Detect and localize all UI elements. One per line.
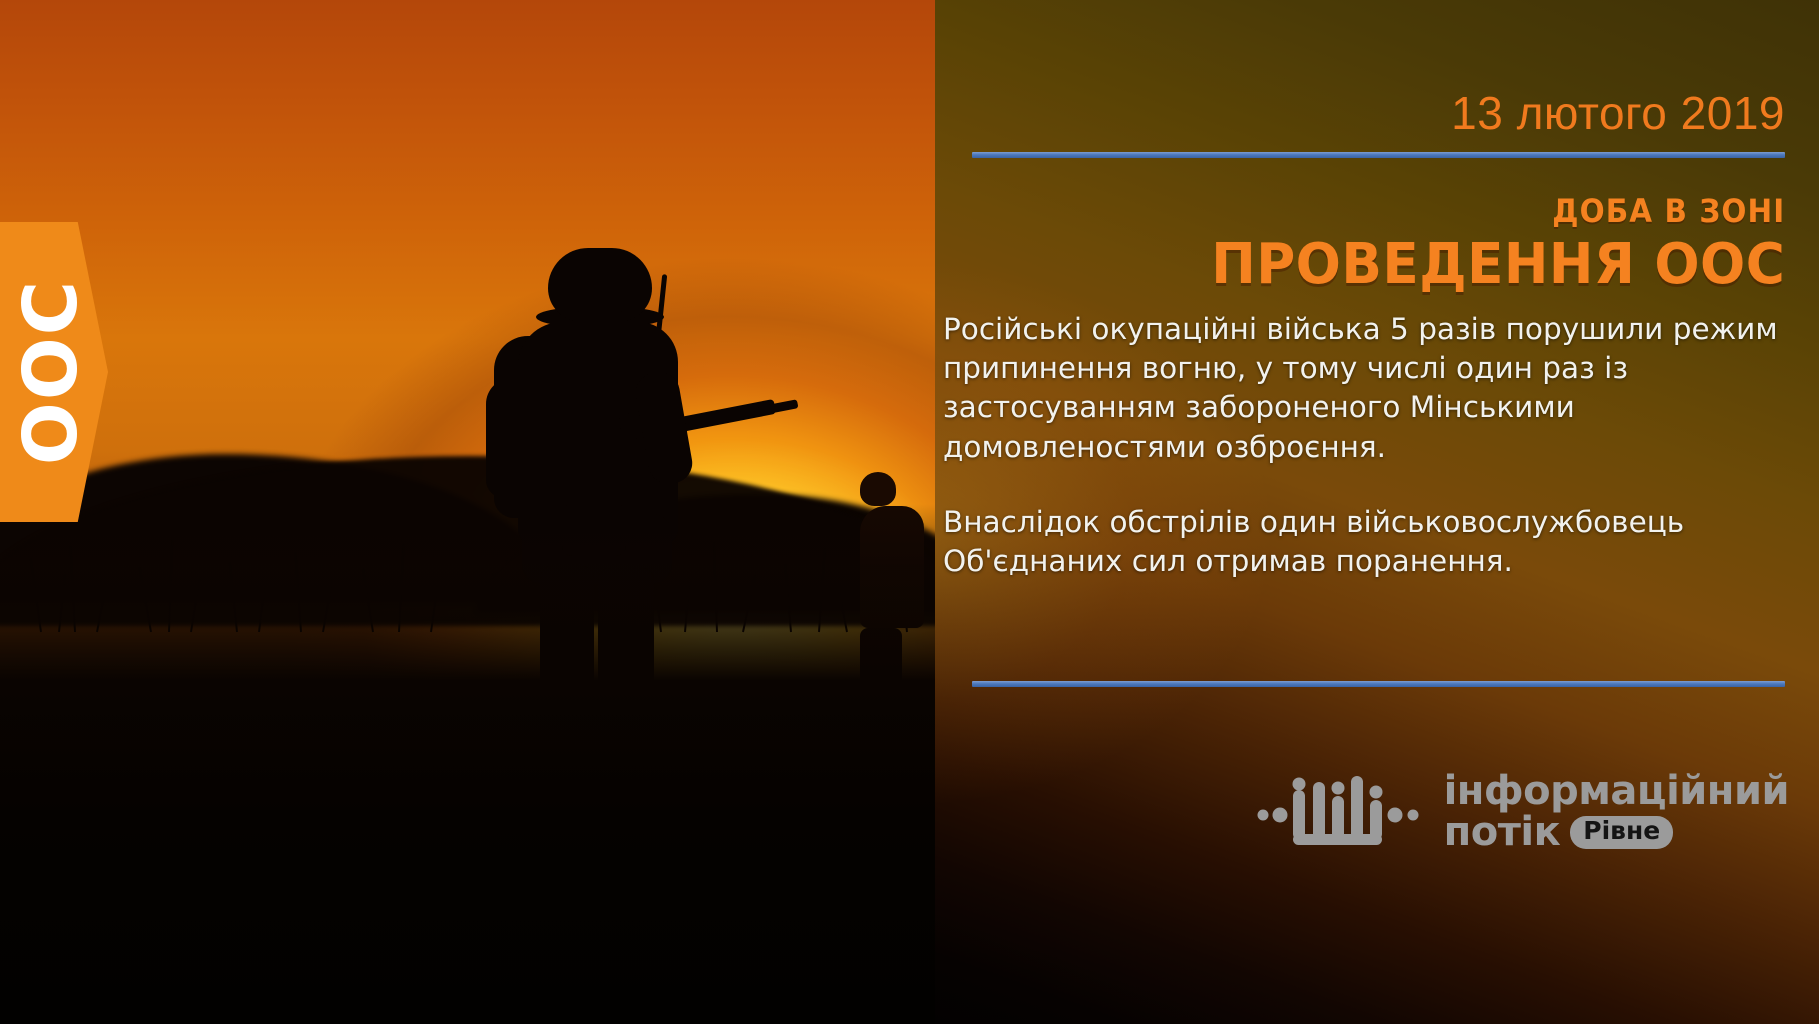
logo-wordmark: інформаційний потік Рівне bbox=[1444, 772, 1789, 852]
page-title: ПРОВЕДЕННЯ ООС bbox=[1211, 232, 1785, 297]
logo-line-2-row: потік Рівне bbox=[1444, 813, 1674, 852]
infographic-card: ООС 13 лютого 2019 ДОБА В ЗОНІ ПРОВЕДЕНН… bbox=[0, 0, 1819, 1024]
logo-line-1: інформаційний bbox=[1444, 772, 1789, 811]
publication-date: 13 лютого 2019 bbox=[1451, 86, 1785, 140]
info-panel: 13 лютого 2019 ДОБА В ЗОНІ ПРОВЕДЕННЯ ОО… bbox=[935, 0, 1819, 1024]
headline-kicker: ДОБА В ЗОНІ bbox=[1552, 192, 1785, 230]
sunset-soldier-photo bbox=[0, 0, 935, 1024]
distant-head bbox=[860, 472, 896, 506]
logo-city-badge: Рівне bbox=[1570, 816, 1673, 849]
paragraph-2: Внаслідок обстрілів один військовослужбо… bbox=[943, 503, 1785, 581]
waveform-icon bbox=[1256, 774, 1426, 850]
foreground-ground bbox=[0, 504, 935, 1024]
oos-badge-label: ООС bbox=[14, 279, 88, 465]
divider-top bbox=[972, 152, 1785, 158]
brand-logo: інформаційний потік Рівне bbox=[1256, 772, 1789, 852]
logo-line-2: потік bbox=[1444, 813, 1561, 852]
paragraph-1: Російські окупаційні війська 5 разів пор… bbox=[943, 310, 1785, 467]
body-copy: Російські окупаційні війська 5 разів пор… bbox=[943, 310, 1785, 581]
divider-bottom bbox=[972, 681, 1785, 687]
